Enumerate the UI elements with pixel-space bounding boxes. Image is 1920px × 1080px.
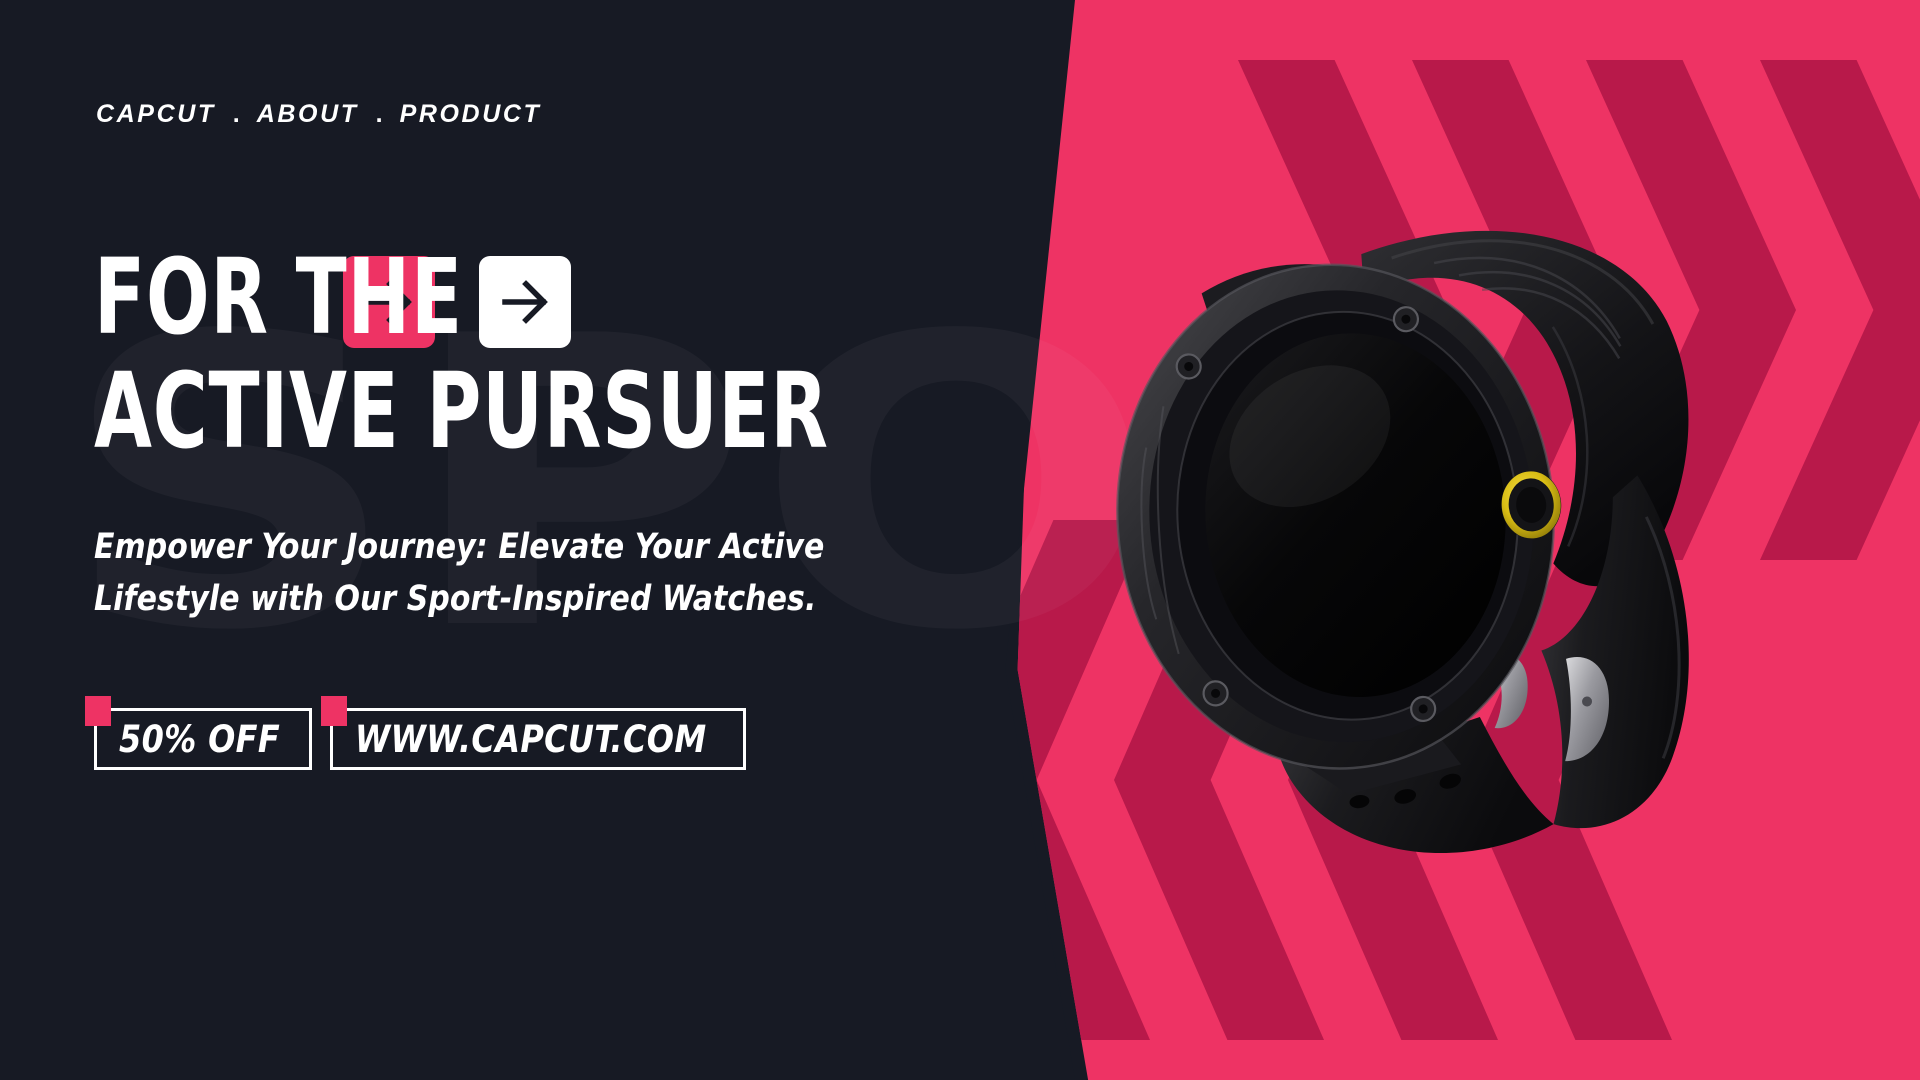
- nav-separator: .: [216, 100, 257, 129]
- product-image-smartwatch: [1056, 136, 1805, 903]
- discount-badge[interactable]: 50% OFF: [94, 708, 312, 770]
- hero-subheading: Empower Your Journey: Elevate Your Activ…: [94, 522, 816, 626]
- website-badge[interactable]: WWW.CAPCUT.COM: [330, 708, 746, 770]
- cta-row: 50% OFF WWW.CAPCUT.COM: [94, 708, 746, 770]
- subheading-line-1: Empower Your Journey: Elevate Your Activ…: [94, 522, 816, 574]
- main-navigation: CAPCUT . ABOUT . PRODUCT: [96, 100, 541, 129]
- headline-line-1: FOR THE: [94, 250, 463, 346]
- nav-item-capcut[interactable]: CAPCUT: [96, 100, 216, 129]
- nav-separator: .: [359, 100, 400, 129]
- website-label: WWW.CAPCUT.COM: [355, 718, 707, 761]
- banner-canvas: SPO: [0, 0, 1920, 1080]
- arrow-right-icon: [499, 276, 551, 328]
- headline-line-2: ACTIVE PURSUER: [94, 364, 814, 460]
- hero-content: CAPCUT . ABOUT . PRODUCT FOR THE: [0, 0, 1075, 1080]
- corner-accent-square: [321, 696, 347, 726]
- arrow-right-button-secondary[interactable]: [479, 256, 571, 348]
- subheading-line-2: Lifestyle with Our Sport-Inspired Watche…: [94, 574, 816, 626]
- discount-label: 50% OFF: [119, 718, 280, 761]
- corner-accent-square: [85, 696, 111, 726]
- headline-block: FOR THE: [94, 250, 994, 460]
- nav-item-about[interactable]: ABOUT: [257, 100, 359, 129]
- nav-item-product[interactable]: PRODUCT: [400, 100, 542, 129]
